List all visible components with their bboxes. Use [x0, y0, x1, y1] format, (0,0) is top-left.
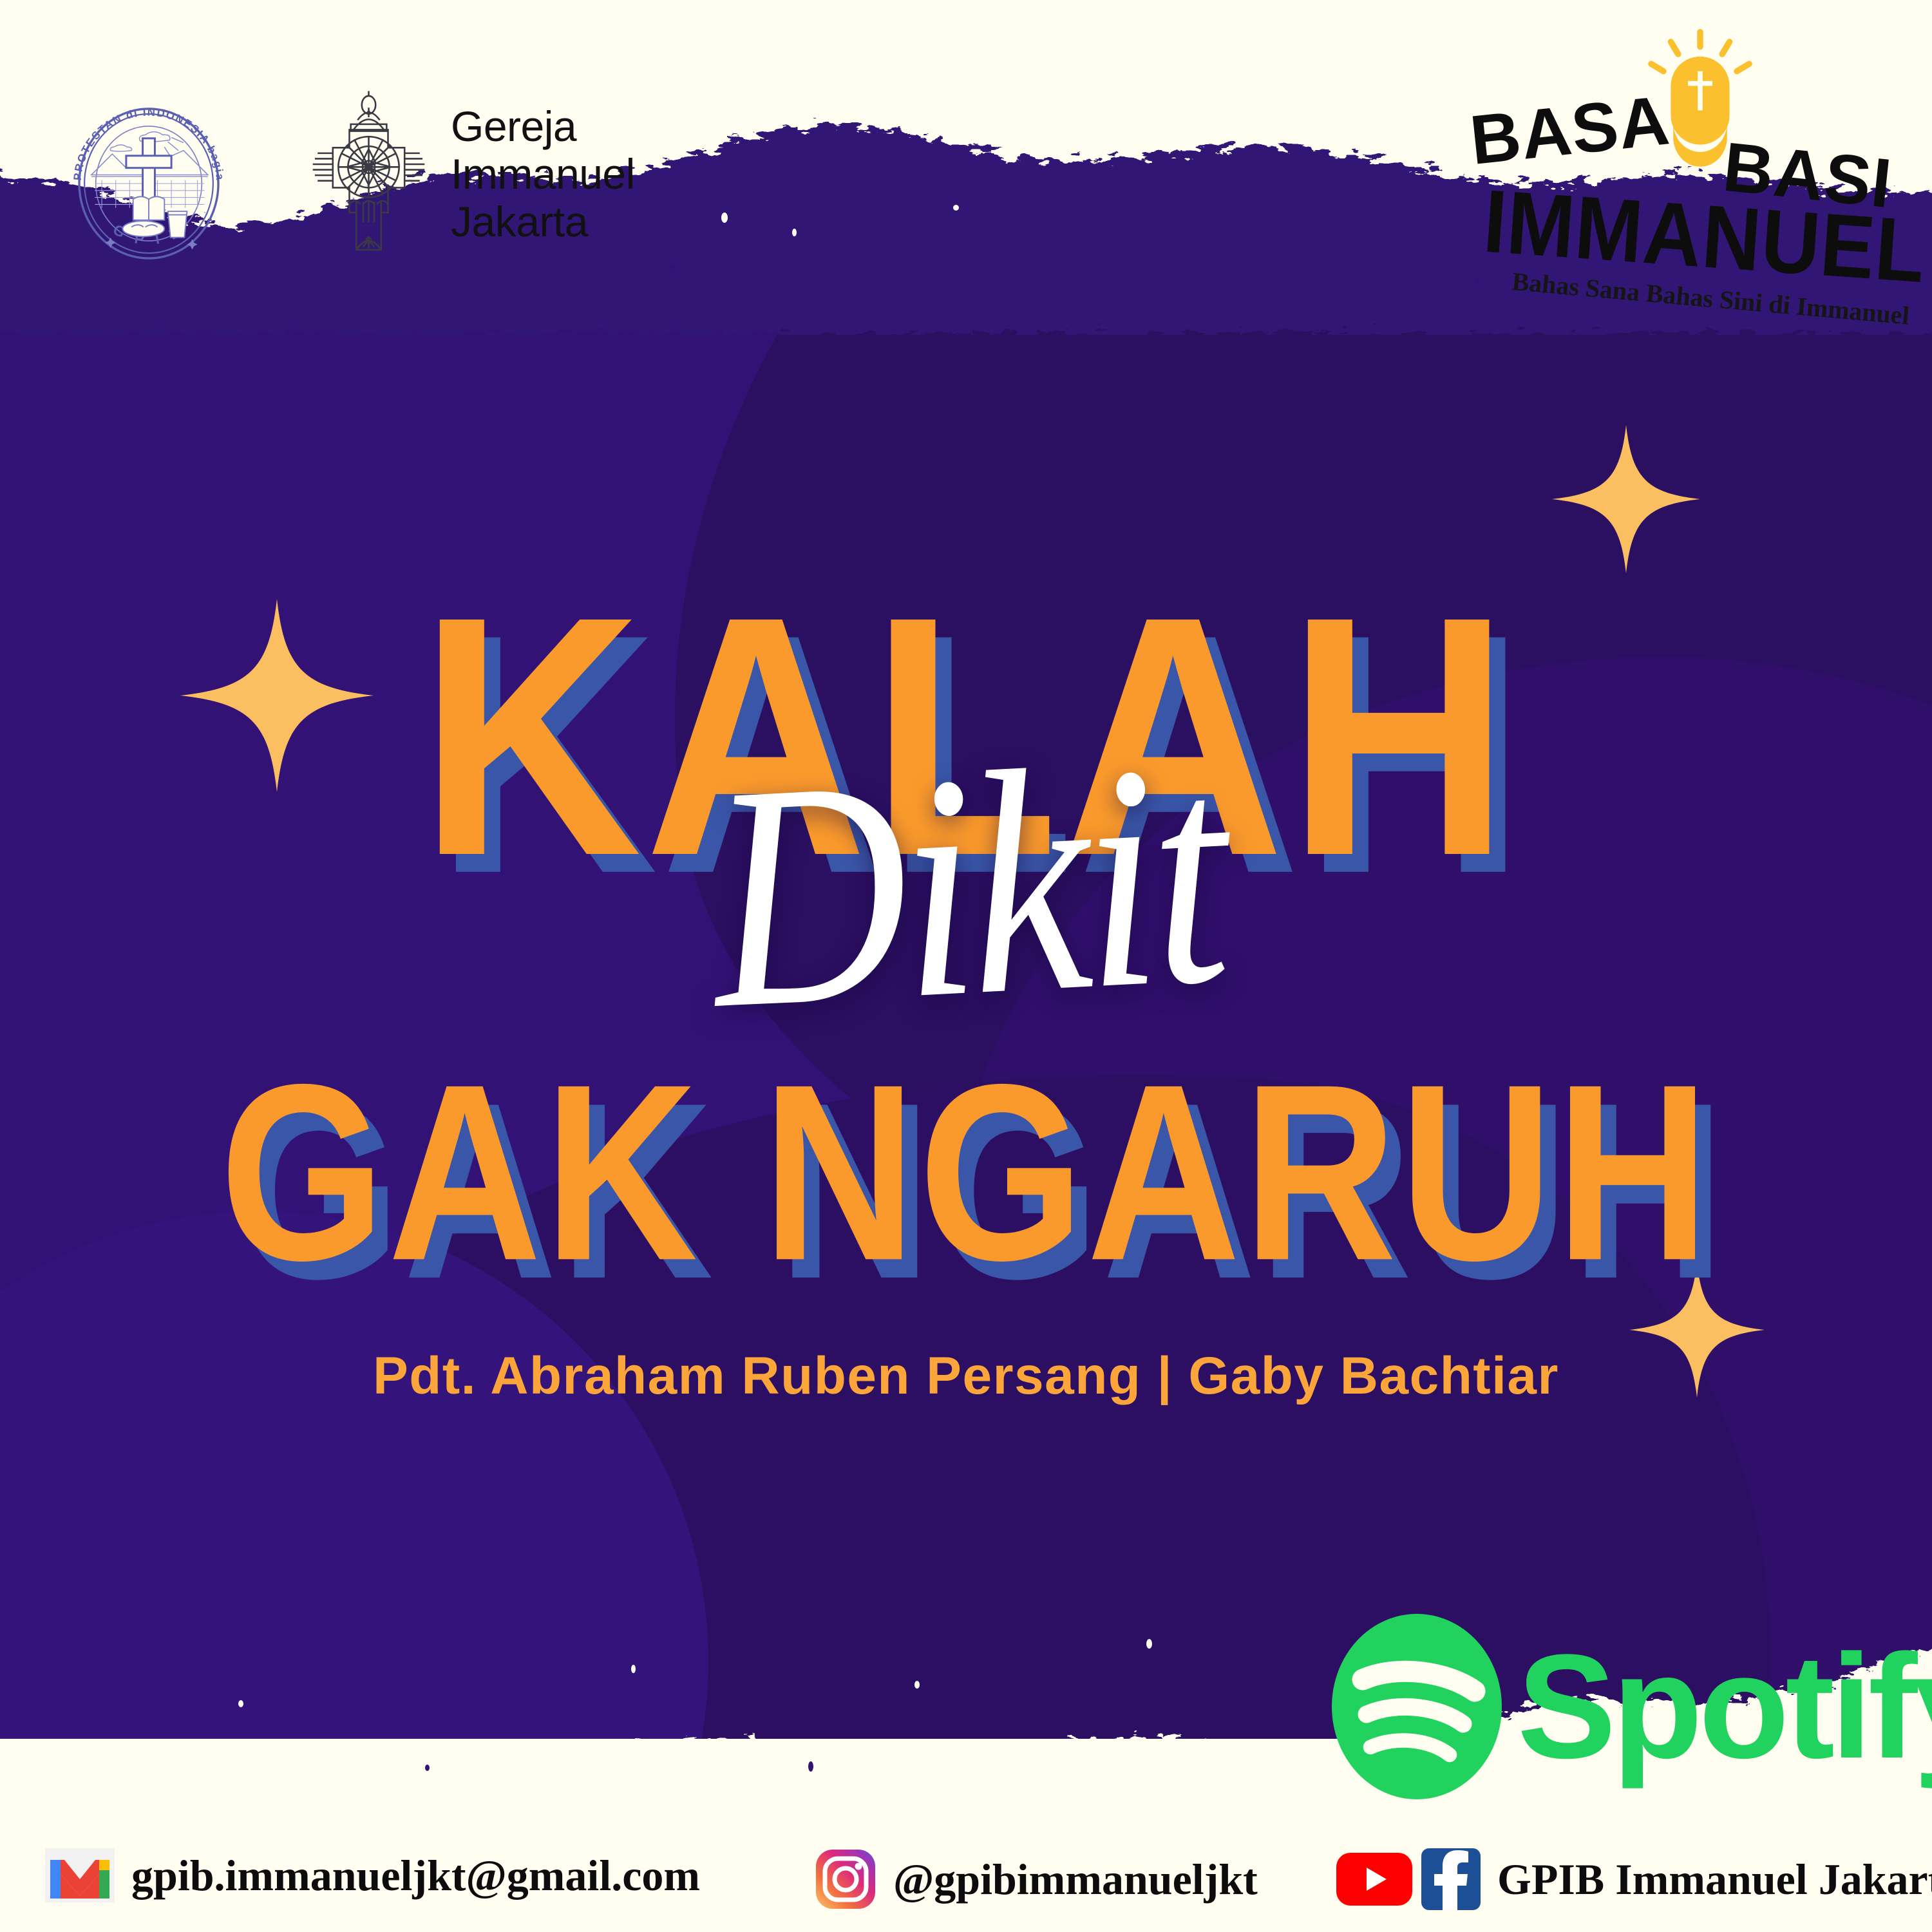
paper-speck	[1146, 1639, 1152, 1649]
four-point-sparkle-icon	[1552, 425, 1700, 573]
facebook-icon	[1421, 1848, 1481, 1910]
paper-speck	[914, 1681, 920, 1689]
youtube-icon	[1336, 1851, 1412, 1907]
gpib-seal-icon: GEREJA PROTESTAN di INDONESIA bagian BAR…	[62, 97, 236, 270]
main-title-block: KALAH GAK NGARUH Dikit	[0, 567, 1932, 1327]
immanuel-church-plan-icon	[299, 87, 438, 280]
paper-speck	[425, 1765, 430, 1771]
footer-email-text: gpib.immanueljkt@gmail.com	[131, 1850, 700, 1901]
instagram-icon	[815, 1848, 876, 1910]
paper-speck	[631, 1665, 636, 1673]
gmail-icon	[45, 1848, 115, 1902]
footer-instagram-text: @gpibimmanueljkt	[893, 1854, 1258, 1905]
footer-social[interactable]: GPIB Immanuel Jakarta	[1336, 1848, 1932, 1910]
church-name-line-3: Jakarta	[451, 198, 635, 246]
title-line-gak-ngaruh: GAK NGARUH	[0, 1046, 1932, 1298]
church-name-line-1: Gereja	[451, 103, 635, 151]
poster-canvas: GEREJA PROTESTAN di INDONESIA bagian BAR…	[0, 0, 1932, 1932]
paper-speck	[808, 1761, 813, 1772]
paper-speck	[1475, 277, 1479, 284]
church-name-line-2: Immanuel	[451, 151, 635, 198]
speaker-credits: Pdt. Abraham Ruben Persang | Gaby Bachti…	[0, 1346, 1932, 1406]
spotify-badge[interactable]: Spotify	[1320, 1604, 1900, 1810]
footer-social-text: GPIB Immanuel Jakarta	[1497, 1854, 1932, 1905]
footer-email[interactable]: gpib.immanueljkt@gmail.com	[45, 1848, 700, 1902]
paper-speck	[670, 264, 675, 273]
footer-instagram[interactable]: @gpibimmanueljkt	[815, 1848, 1258, 1910]
spotify-wordmark: Spotify	[1517, 1636, 1932, 1777]
basa-basi-immanuel-logo: BASA BASI IMMANUEL Bahas Sana Bahas Sini…	[1475, 29, 1913, 254]
paper-speck	[238, 1700, 243, 1707]
poster-header: GEREJA PROTESTAN di INDONESIA bagian BAR…	[0, 0, 1932, 258]
spotify-icon	[1320, 1610, 1513, 1803]
church-name-block: Gereja Immanuel Jakarta	[451, 103, 635, 246]
